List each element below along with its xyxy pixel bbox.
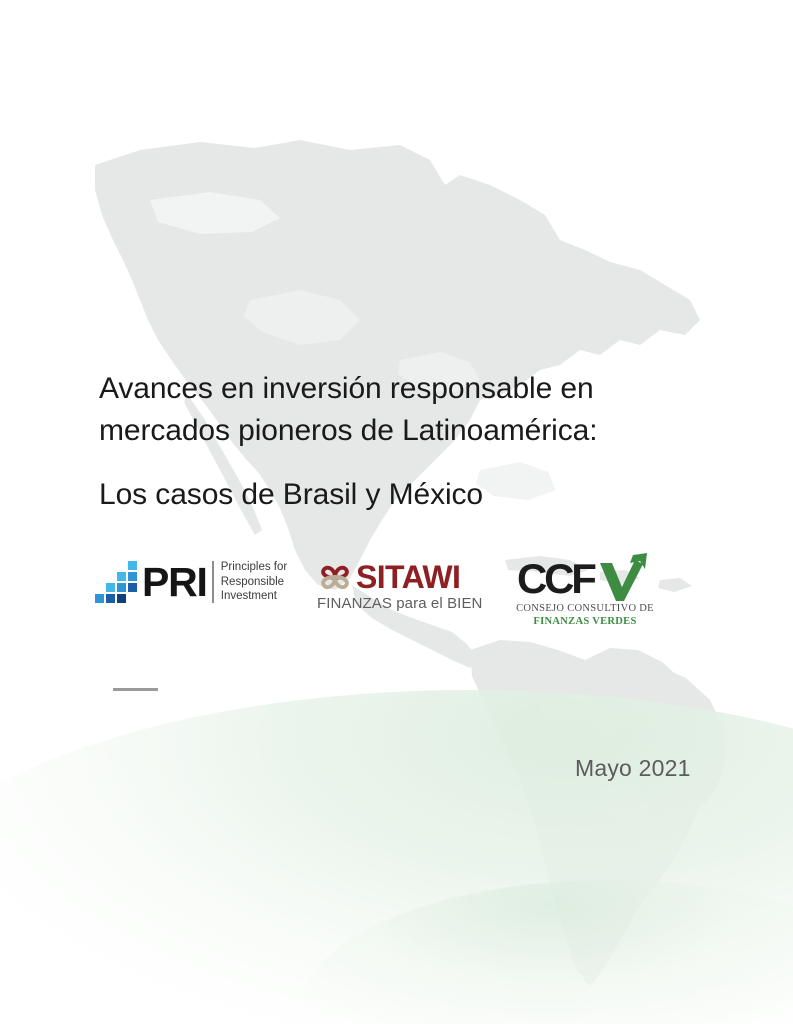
pri-mosaic-icon bbox=[95, 561, 137, 603]
pri-tagline-line-3: Investment bbox=[221, 589, 287, 604]
title-line-1: Avances en inversión responsable en bbox=[99, 368, 709, 410]
logo-row: PRI Principles for Responsible Investmen… bbox=[95, 552, 695, 638]
publication-date: Mayo 2021 bbox=[575, 755, 691, 782]
pri-wordmark: PRI bbox=[142, 562, 207, 602]
ccfv-subtitle-line-2: FINANZAS VERDES bbox=[505, 615, 665, 628]
logo-pri: PRI Principles for Responsible Investmen… bbox=[95, 560, 287, 604]
sitawi-knot-icon bbox=[317, 562, 353, 592]
page-title: Avances en inversión responsable en merc… bbox=[99, 368, 709, 516]
pri-tagline: Principles for Responsible Investment bbox=[221, 560, 287, 604]
document-cover-page: Avances en inversión responsable en merc… bbox=[0, 0, 793, 1024]
title-subtitle: Los casos de Brasil y México bbox=[99, 474, 709, 516]
pri-tagline-line-1: Principles for bbox=[221, 560, 287, 575]
short-divider-rule bbox=[113, 688, 158, 691]
logo-sitawi: SITAWI FINANZAS para el BIEN bbox=[317, 562, 482, 612]
ccfv-subtitle-line-1: CONSEJO CONSULTIVO DE bbox=[505, 602, 665, 615]
ccfv-wordmark: CCF bbox=[517, 558, 594, 600]
sitawi-top-row: SITAWI bbox=[317, 562, 482, 592]
sitawi-tagline: FINANZAS para el BIEN bbox=[317, 595, 482, 612]
ccfv-top-row: CCF bbox=[505, 554, 665, 602]
title-line-2: mercados pioneros de Latinoamérica: bbox=[99, 410, 709, 452]
green-wash-accent bbox=[0, 690, 793, 1024]
sitawi-wordmark: SITAWI bbox=[356, 562, 460, 592]
green-up-arrow-icon bbox=[597, 551, 649, 603]
pri-divider bbox=[212, 561, 214, 603]
pri-tagline-line-2: Responsible bbox=[221, 575, 287, 590]
logo-ccfv: CCF CONSEJO CONSULTIVO DE FINANZAS VERDE… bbox=[505, 554, 665, 628]
green-wash-accent-secondary bbox=[300, 880, 793, 1024]
